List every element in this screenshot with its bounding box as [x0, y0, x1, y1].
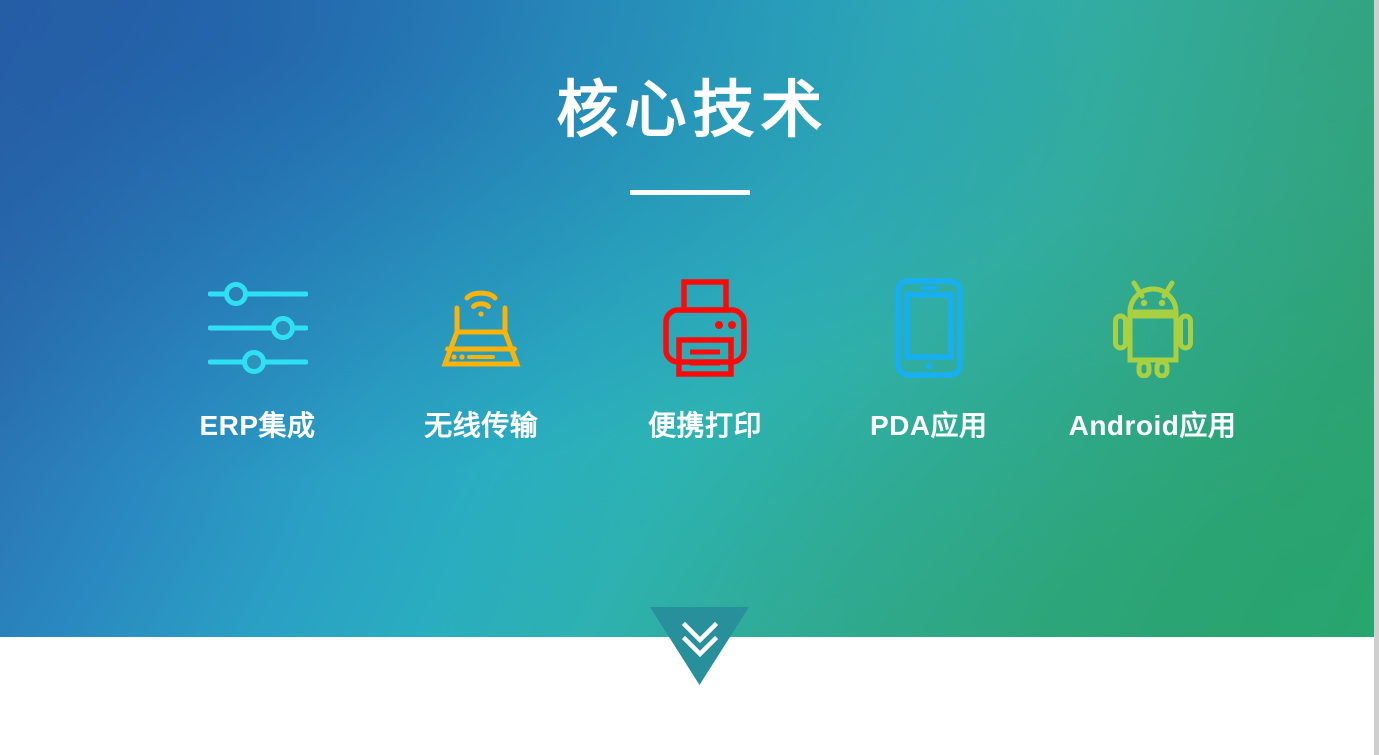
scroll-down-button[interactable]: [650, 607, 749, 685]
feature-label-erp: ERP集成: [150, 404, 365, 444]
tablet-pda-icon: [821, 276, 1036, 380]
feature-label-android: Android应用: [1045, 404, 1260, 444]
printer-icon: [598, 276, 813, 380]
feature-list: ERP集成: [150, 276, 1260, 444]
feature-item-printer[interactable]: 便携打印: [598, 276, 813, 444]
feature-item-android[interactable]: Android应用: [1045, 276, 1260, 444]
feature-item-pda[interactable]: PDA应用: [821, 276, 1036, 444]
wireless-router-icon: [374, 276, 589, 380]
hero-heading-group: 核心技术: [0, 78, 1379, 195]
title-divider: [630, 190, 750, 195]
page-root: 核心技术: [0, 0, 1379, 755]
feature-item-wireless[interactable]: 无线传输: [374, 276, 589, 444]
feature-item-erp[interactable]: ERP集成: [150, 276, 365, 444]
feature-label-pda: PDA应用: [821, 404, 1036, 444]
feature-label-wireless: 无线传输: [374, 404, 589, 444]
android-robot-icon: [1045, 276, 1260, 380]
hero-section: 核心技术: [0, 0, 1379, 637]
double-chevron-down-icon: [650, 617, 749, 661]
page-right-edge: [1374, 0, 1379, 755]
feature-label-printer: 便携打印: [598, 404, 813, 444]
sliders-icon: [150, 276, 365, 380]
page-title: 核心技术: [0, 78, 1379, 145]
